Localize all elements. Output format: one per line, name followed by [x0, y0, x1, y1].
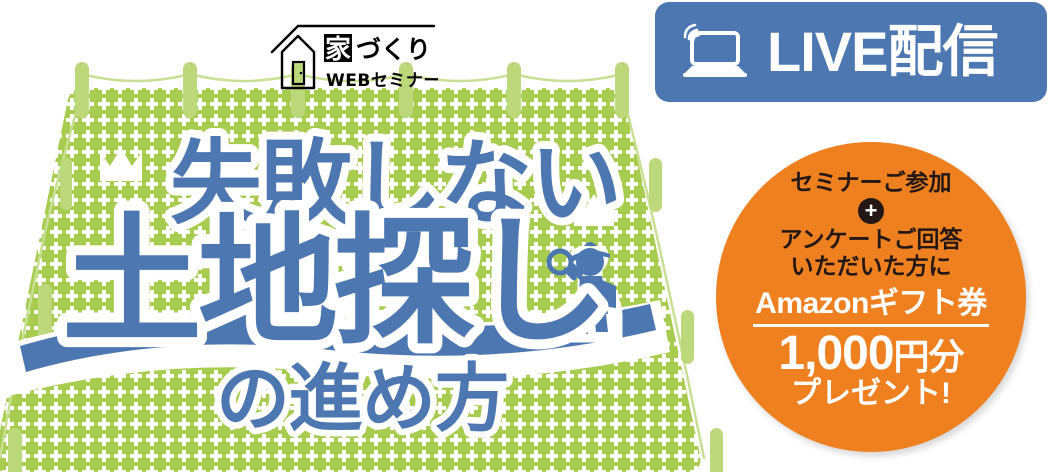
- svg-text:づくり: づくり: [356, 35, 431, 64]
- house-outline-icon: [282, 36, 314, 88]
- amazon-gift-badge: セミナーご参加 + アンケートご回答 いただいた方に Amazonギフト券 1,…: [716, 142, 1026, 452]
- gift-amount: 1,000円分: [778, 329, 963, 379]
- laptop-wifi-icon: [679, 21, 753, 83]
- gift-amount-number: 1,000: [778, 327, 893, 380]
- svg-text:家: 家: [325, 35, 351, 65]
- live-badge-label: LIVE配信: [767, 24, 997, 80]
- live-stream-badge: LIVE配信: [655, 2, 1047, 102]
- gift-line-1: セミナーご参加: [791, 170, 952, 195]
- seminar-banner: 失敗しない 失敗しない 土地探し 土地探し の進め方 の進め方: [0, 0, 1052, 472]
- gift-line-2: アンケートご回答: [779, 226, 962, 252]
- present-label: プレゼント!: [791, 378, 951, 410]
- seminar-logo: 家 づくり WEBセミナー: [268, 18, 438, 98]
- svg-text:WEBセミナー: WEBセミナー: [326, 71, 438, 91]
- plus-icon: +: [858, 198, 884, 224]
- gift-amount-unit: 円分: [894, 336, 964, 377]
- amazon-gift-label: Amazonギフト券: [755, 287, 987, 320]
- gift-line-3: いただいた方に: [791, 253, 952, 279]
